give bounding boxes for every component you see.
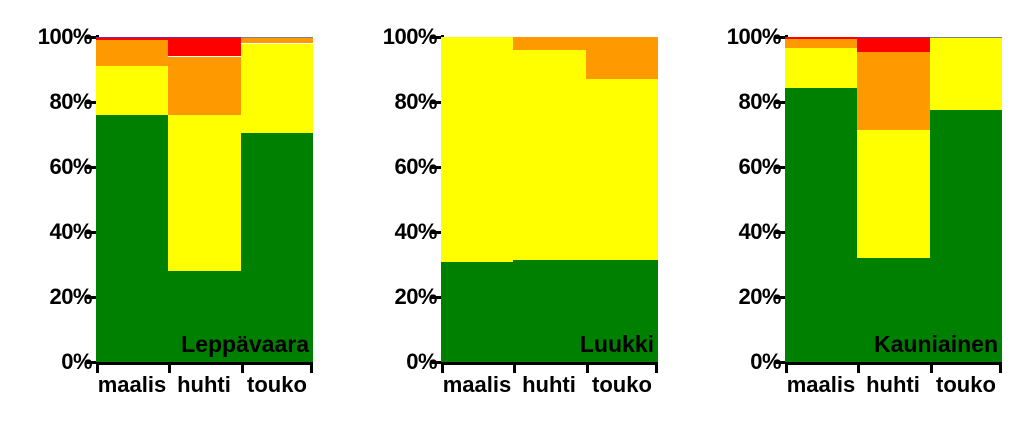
bar-segment-orange bbox=[857, 52, 930, 130]
x-axis-tick bbox=[586, 362, 589, 373]
x-axis-tick-label-maalis: maalis bbox=[441, 374, 513, 396]
x-axis-tick bbox=[241, 362, 244, 373]
x-axis-tick-label-huhti: huhti bbox=[513, 374, 585, 396]
bar-segment-yellow bbox=[930, 38, 1002, 110]
bar-segment-red bbox=[857, 38, 930, 51]
bar-segment-green bbox=[96, 115, 168, 362]
bar-segment-green bbox=[513, 260, 586, 362]
bar-column-huhti bbox=[168, 35, 241, 362]
x-axis-tick-label-touko: touko bbox=[930, 374, 1002, 396]
x-axis-tick-label-maalis: maalis bbox=[785, 374, 857, 396]
bar-segment-yellow bbox=[785, 48, 857, 88]
x-axis-tick bbox=[930, 362, 933, 373]
bar-segment-yellow bbox=[586, 79, 658, 260]
y-axis-tick-label: 20% bbox=[49, 286, 92, 308]
bar-segment-orange bbox=[96, 40, 168, 66]
y-axis-tick-label: 60% bbox=[394, 156, 437, 178]
y-axis-tick-label: 80% bbox=[394, 91, 437, 113]
bar-segment-red bbox=[168, 38, 241, 56]
x-axis-tick-label-huhti: huhti bbox=[857, 374, 929, 396]
x-axis-tick-label-touko: touko bbox=[586, 374, 658, 396]
chart-panel-leppävaara: 0%20%40%60%80%100%Leppävaaramaalishuhtit… bbox=[0, 0, 345, 448]
figure-canvas: 0%20%40%60%80%100%Leppävaaramaalishuhtit… bbox=[0, 0, 1034, 448]
y-axis-tick-label: 0% bbox=[750, 351, 781, 373]
y-axis-tick-label: 100% bbox=[38, 26, 92, 48]
y-axis-tick-label: 40% bbox=[738, 221, 781, 243]
bar-segment-green bbox=[930, 110, 1002, 362]
x-axis-tick bbox=[513, 362, 516, 373]
bar-column-touko bbox=[241, 35, 313, 362]
y-axis-tick-label: 0% bbox=[406, 351, 437, 373]
bar-column-maalis bbox=[785, 35, 857, 362]
plot-area bbox=[785, 35, 1002, 362]
plot-area bbox=[441, 35, 658, 362]
chart-panel-luukki: 0%20%40%60%80%100%Luukkimaalishuhtitouko bbox=[345, 0, 690, 448]
bar-segment-green bbox=[785, 88, 857, 362]
y-axis-tick-label: 20% bbox=[738, 286, 781, 308]
y-axis-tick-label: 60% bbox=[738, 156, 781, 178]
x-axis-tick-label-maalis: maalis bbox=[96, 374, 168, 396]
bar-segment-orange bbox=[513, 37, 586, 50]
x-axis-tick bbox=[310, 362, 313, 373]
bar-segment-orange bbox=[586, 37, 658, 79]
x-axis-tick-label-huhti: huhti bbox=[168, 374, 240, 396]
x-axis-line bbox=[441, 362, 658, 365]
x-axis-line bbox=[785, 362, 1002, 365]
bar-segment-gray bbox=[930, 37, 1002, 38]
x-axis-tick bbox=[168, 362, 171, 373]
y-axis-tick-label: 40% bbox=[394, 221, 437, 243]
bar-segment-orange bbox=[241, 38, 313, 43]
y-axis-tick-label: 0% bbox=[61, 351, 92, 373]
chart-panel-kauniainen: 0%20%40%60%80%100%Kauniainenmaalishuhtit… bbox=[689, 0, 1034, 448]
x-axis-line bbox=[96, 362, 313, 365]
chart-title-label: Luukki bbox=[580, 333, 654, 356]
chart-title-label: Leppävaara bbox=[181, 333, 309, 356]
bar-segment-purple bbox=[168, 37, 241, 38]
bar-column-maalis bbox=[441, 35, 513, 362]
bar-segment-yellow bbox=[857, 130, 930, 258]
y-axis-tick-label: 80% bbox=[738, 91, 781, 113]
x-axis-tick-label-touko: touko bbox=[241, 374, 313, 396]
bar-segment-green bbox=[241, 133, 313, 362]
bar-segment-red bbox=[785, 37, 857, 39]
bar-segment-yellow bbox=[441, 37, 513, 262]
y-axis-tick-label: 20% bbox=[394, 286, 437, 308]
x-axis-tick bbox=[655, 362, 658, 373]
bar-segment-red bbox=[96, 38, 168, 40]
y-axis-tick-label: 40% bbox=[49, 221, 92, 243]
y-axis-tick-label: 60% bbox=[49, 156, 92, 178]
bar-segment-orange bbox=[785, 39, 857, 49]
bar-segment-yellow bbox=[96, 66, 168, 115]
bar-column-touko bbox=[930, 35, 1002, 362]
bar-segment-gray bbox=[241, 37, 313, 38]
y-axis-tick-label: 100% bbox=[383, 26, 437, 48]
bar-segment-green bbox=[441, 262, 513, 362]
bar-segment-orange bbox=[168, 57, 241, 116]
bar-segment-yellow bbox=[241, 44, 313, 133]
bar-column-huhti bbox=[857, 35, 930, 362]
bar-segment-yellow bbox=[168, 115, 241, 271]
y-axis-tick-label: 100% bbox=[727, 26, 781, 48]
bar-column-touko bbox=[586, 35, 658, 362]
bar-column-huhti bbox=[513, 35, 586, 362]
x-axis-tick bbox=[999, 362, 1002, 373]
bar-column-maalis bbox=[96, 35, 168, 362]
x-axis-tick bbox=[857, 362, 860, 373]
chart-title-label: Kauniainen bbox=[874, 333, 998, 356]
bar-segment-purple bbox=[96, 37, 168, 38]
bar-segment-yellow bbox=[513, 50, 586, 260]
plot-area bbox=[96, 35, 313, 362]
bar-segment-purple bbox=[857, 37, 930, 38]
y-axis-tick-label: 80% bbox=[49, 91, 92, 113]
